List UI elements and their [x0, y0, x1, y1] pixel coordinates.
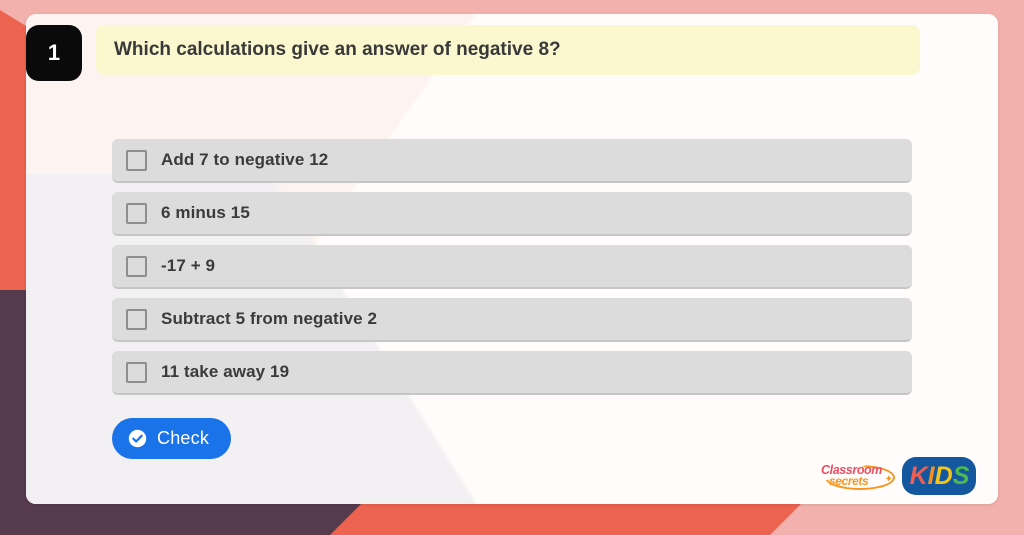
- kids-logo-letter-s: S: [953, 462, 969, 491]
- option-row[interactable]: 6 minus 15: [112, 192, 912, 236]
- option-label: 11 take away 19: [161, 362, 289, 382]
- page-frame: 1 Which calculations give an answer of n…: [0, 0, 1024, 535]
- question-banner: Which calculations give an answer of neg…: [96, 25, 920, 75]
- checkbox-icon[interactable]: [126, 362, 147, 383]
- check-button-label: Check: [157, 428, 209, 449]
- option-label: -17 + 9: [161, 256, 215, 276]
- option-row[interactable]: -17 + 9: [112, 245, 912, 289]
- kids-logo-letter-k: K: [910, 462, 927, 491]
- question-header: 1 Which calculations give an answer of n…: [26, 25, 920, 81]
- option-label: Add 7 to negative 12: [161, 150, 328, 170]
- checkbox-icon[interactable]: [126, 203, 147, 224]
- option-label: 6 minus 15: [161, 203, 250, 223]
- question-number-badge: 1: [26, 25, 82, 81]
- check-circle-icon: [128, 429, 147, 448]
- checkbox-icon[interactable]: [126, 150, 147, 171]
- classroom-secrets-logo: Classroom secrets ✦: [819, 462, 893, 490]
- kids-logo: K I D S: [902, 457, 976, 495]
- option-row[interactable]: Subtract 5 from negative 2: [112, 298, 912, 342]
- question-text: Which calculations give an answer of neg…: [114, 38, 561, 62]
- option-row[interactable]: Add 7 to negative 12: [112, 139, 912, 183]
- options-list: Add 7 to negative 12 6 minus 15 -17 + 9 …: [112, 139, 912, 404]
- decorative-coral-left-band: [0, 0, 26, 300]
- check-button[interactable]: Check: [112, 418, 231, 459]
- kids-logo-letter-d: D: [935, 462, 952, 491]
- checkbox-icon[interactable]: [126, 256, 147, 277]
- classroom-secrets-line2: secrets: [829, 474, 868, 488]
- quiz-card: 1 Which calculations give an answer of n…: [26, 14, 998, 504]
- option-row[interactable]: 11 take away 19: [112, 351, 912, 395]
- kids-logo-letter-i: I: [928, 462, 934, 491]
- star-icon: ✦: [885, 475, 893, 485]
- question-number-label: 1: [48, 40, 60, 66]
- brand-logos: Classroom secrets ✦ K I D S: [819, 457, 976, 495]
- option-label: Subtract 5 from negative 2: [161, 309, 377, 329]
- checkbox-icon[interactable]: [126, 309, 147, 330]
